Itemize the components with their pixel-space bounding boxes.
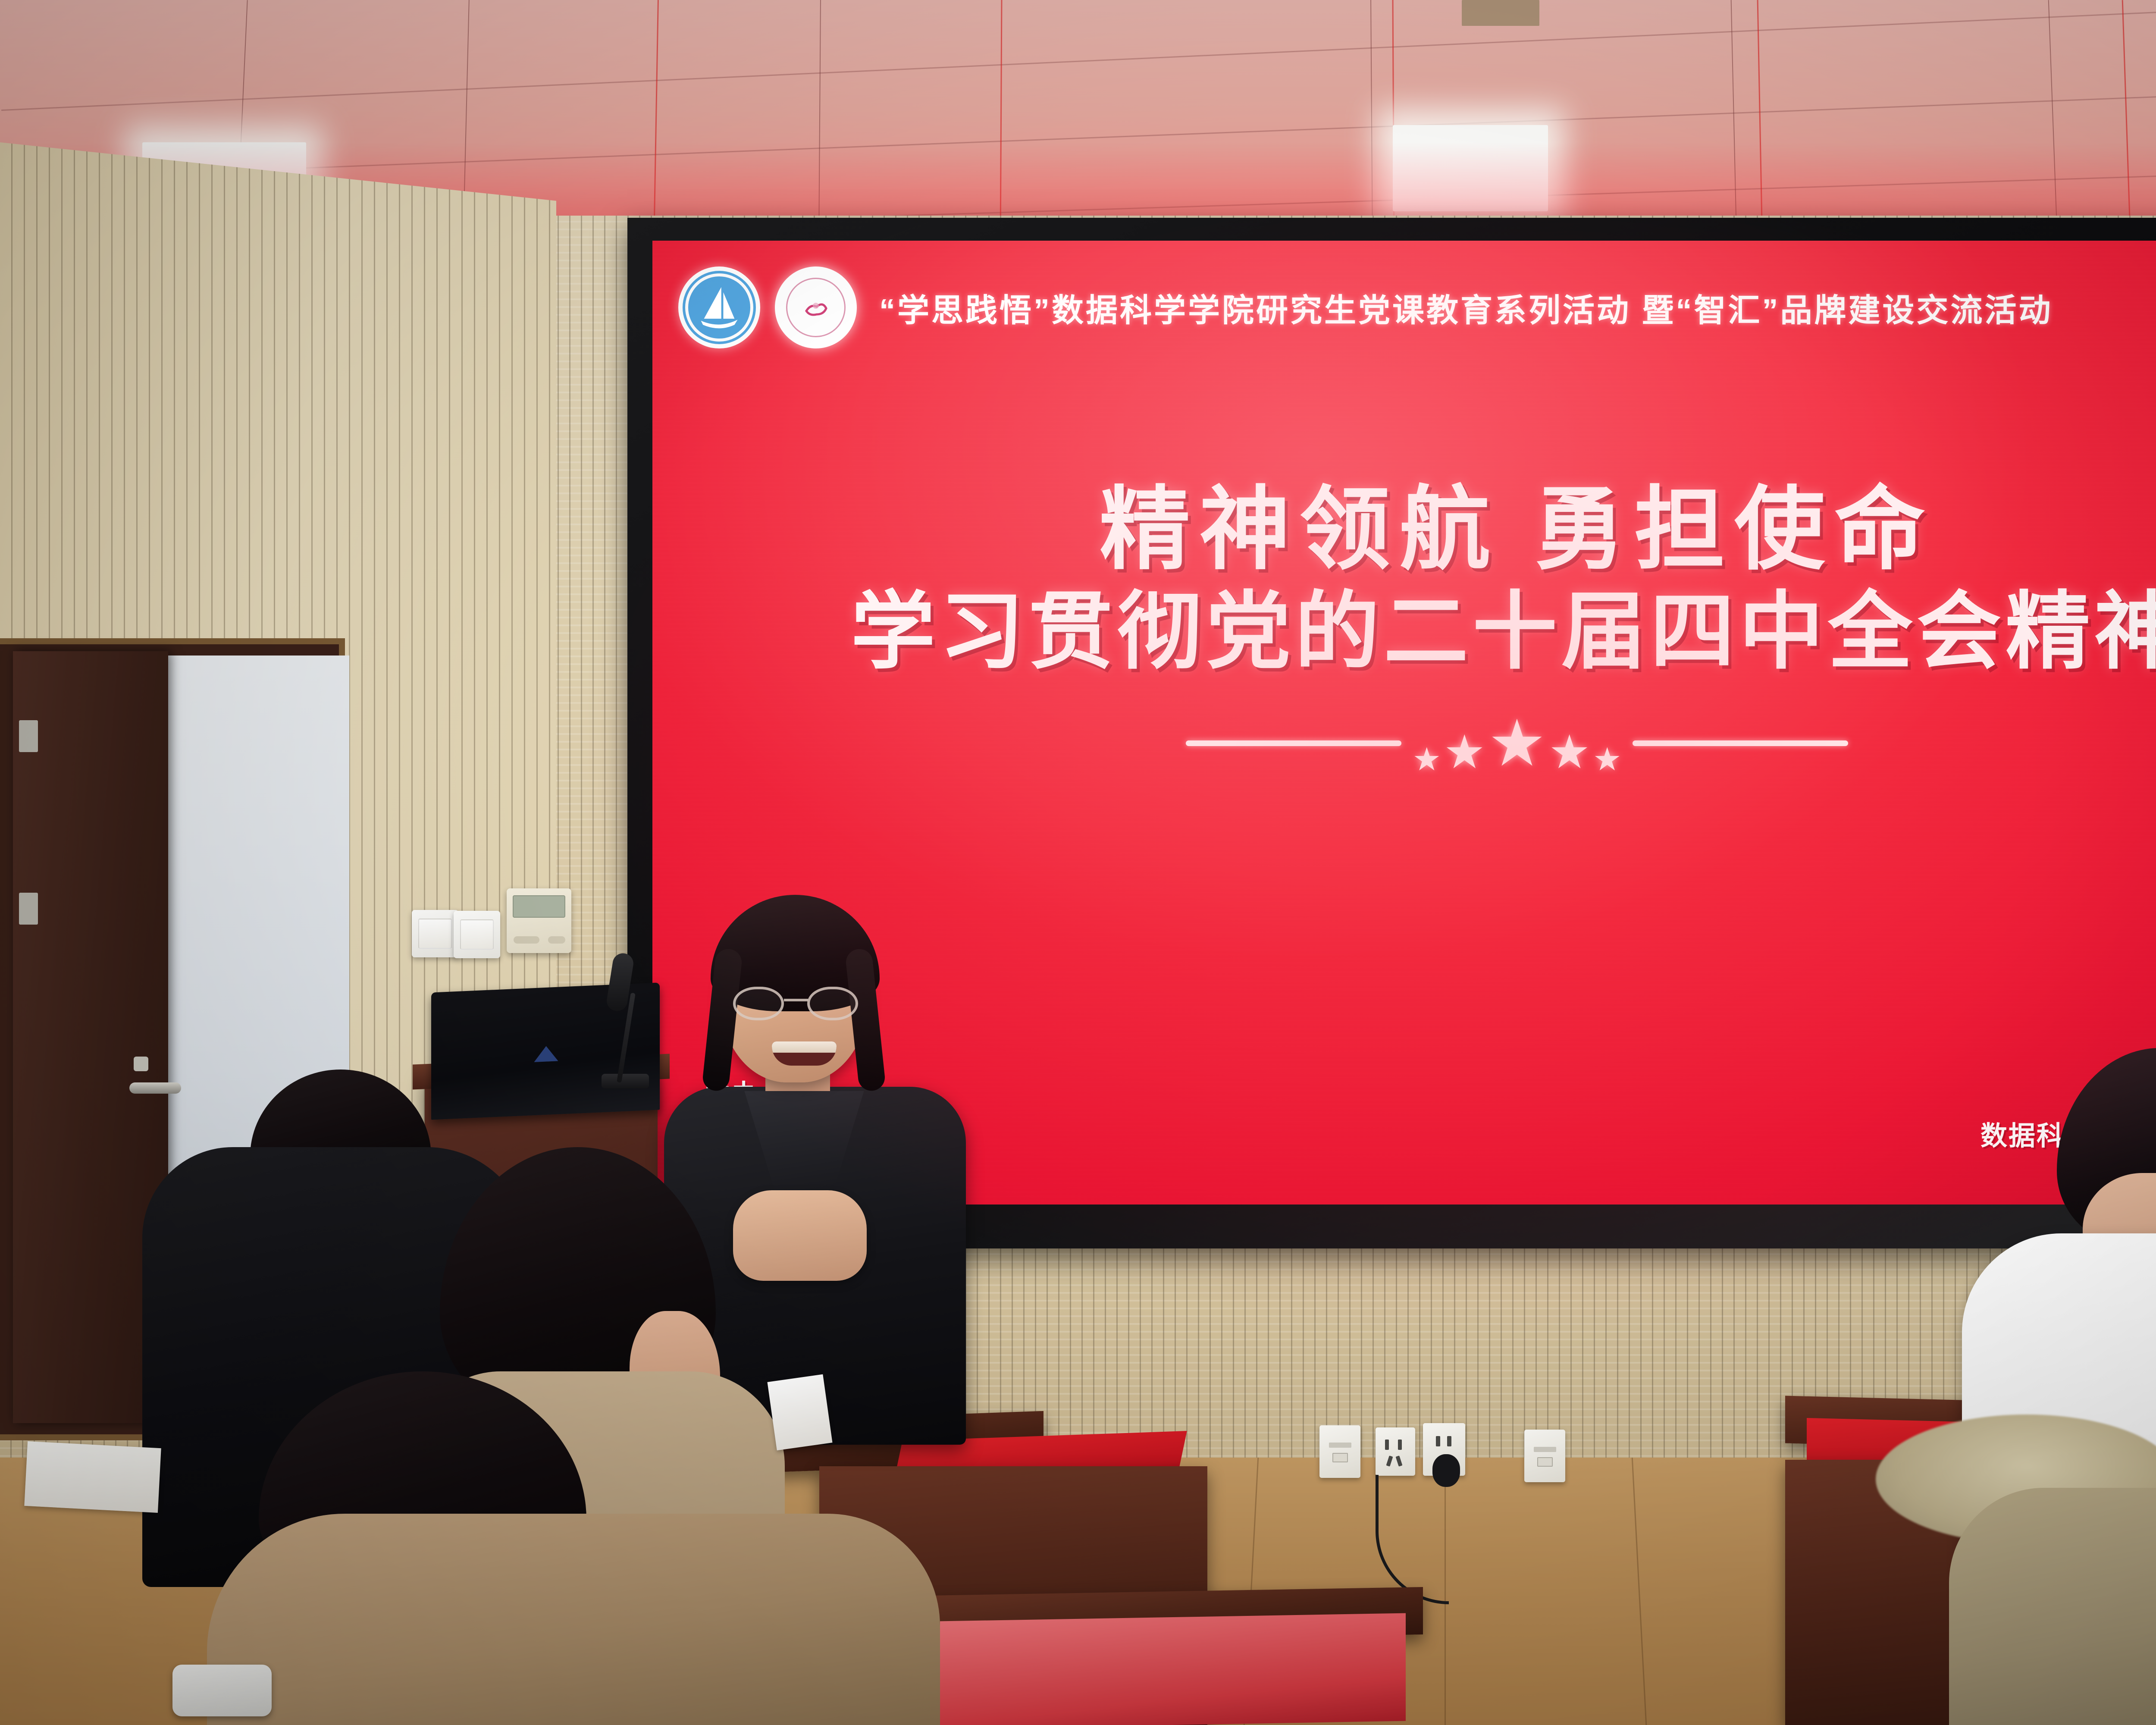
paper-sheet: [767, 1374, 832, 1451]
speaker-mouth: [772, 1041, 837, 1066]
audience-coat: [207, 1514, 940, 1725]
screen-header: “学思践悟”数据科学学院研究生党课教育系列活动 暨“智汇”品牌建设交流活动: [678, 267, 2053, 348]
screen-title-line2: 学习贯彻党的二十届四中全会精神: [652, 584, 2156, 679]
smartphone[interactable]: [172, 1665, 272, 1716]
screen-title-line1: 精神领航 勇担使命: [652, 482, 2156, 577]
circular-emblem-icon: [775, 267, 857, 348]
desk-panel: [940, 1613, 1406, 1725]
university-seal-sailboat-icon: [678, 267, 760, 348]
data-jack[interactable]: [1319, 1425, 1360, 1478]
power-outlet[interactable]: [1376, 1427, 1415, 1476]
star-icon: ★: [1488, 711, 1546, 775]
speaker-hands: [733, 1190, 867, 1281]
screen-header-text: “学思践悟”数据科学学院研究生党课教育系列活动 暨“智汇”品牌建设交流活动: [879, 285, 2053, 331]
divider-line-right: [1633, 740, 1848, 746]
ceiling-vent-icon: [1462, 0, 1539, 26]
door-lock-icon[interactable]: [134, 1057, 148, 1071]
divider-line-left: [1186, 740, 1401, 746]
laptop-logo-icon: [534, 1045, 558, 1062]
screen-title-block: 精神领航 勇担使命 学习贯彻党的二十届四中全会精神 ★ ★ ★ ★ ★: [652, 482, 2156, 775]
audience-coat: [1949, 1488, 2156, 1725]
light-switch[interactable]: [454, 911, 500, 958]
divider-stars: ★ ★ ★ ★ ★: [1413, 711, 1622, 775]
star-icon: ★: [1593, 743, 1621, 775]
ac-display: [513, 895, 565, 918]
photo-scene: “学思践悟”数据科学学院研究生党课教育系列活动 暨“智汇”品牌建设交流活动 精神…: [0, 0, 2156, 1725]
star-icon: ★: [1444, 729, 1485, 775]
speaker-eyeglasses: [733, 987, 858, 1020]
light-switch[interactable]: [412, 910, 458, 957]
paper-sheet: [24, 1441, 161, 1513]
ac-controller-panel[interactable]: [507, 888, 571, 953]
data-jack[interactable]: [1524, 1430, 1565, 1482]
microphone-base: [602, 1074, 649, 1088]
star-icon: ★: [1413, 743, 1441, 775]
star-divider: ★ ★ ★ ★ ★: [652, 711, 2156, 775]
star-icon: ★: [1548, 729, 1590, 775]
audience-member: [207, 1371, 940, 1725]
audience-member: [1876, 1414, 2156, 1725]
